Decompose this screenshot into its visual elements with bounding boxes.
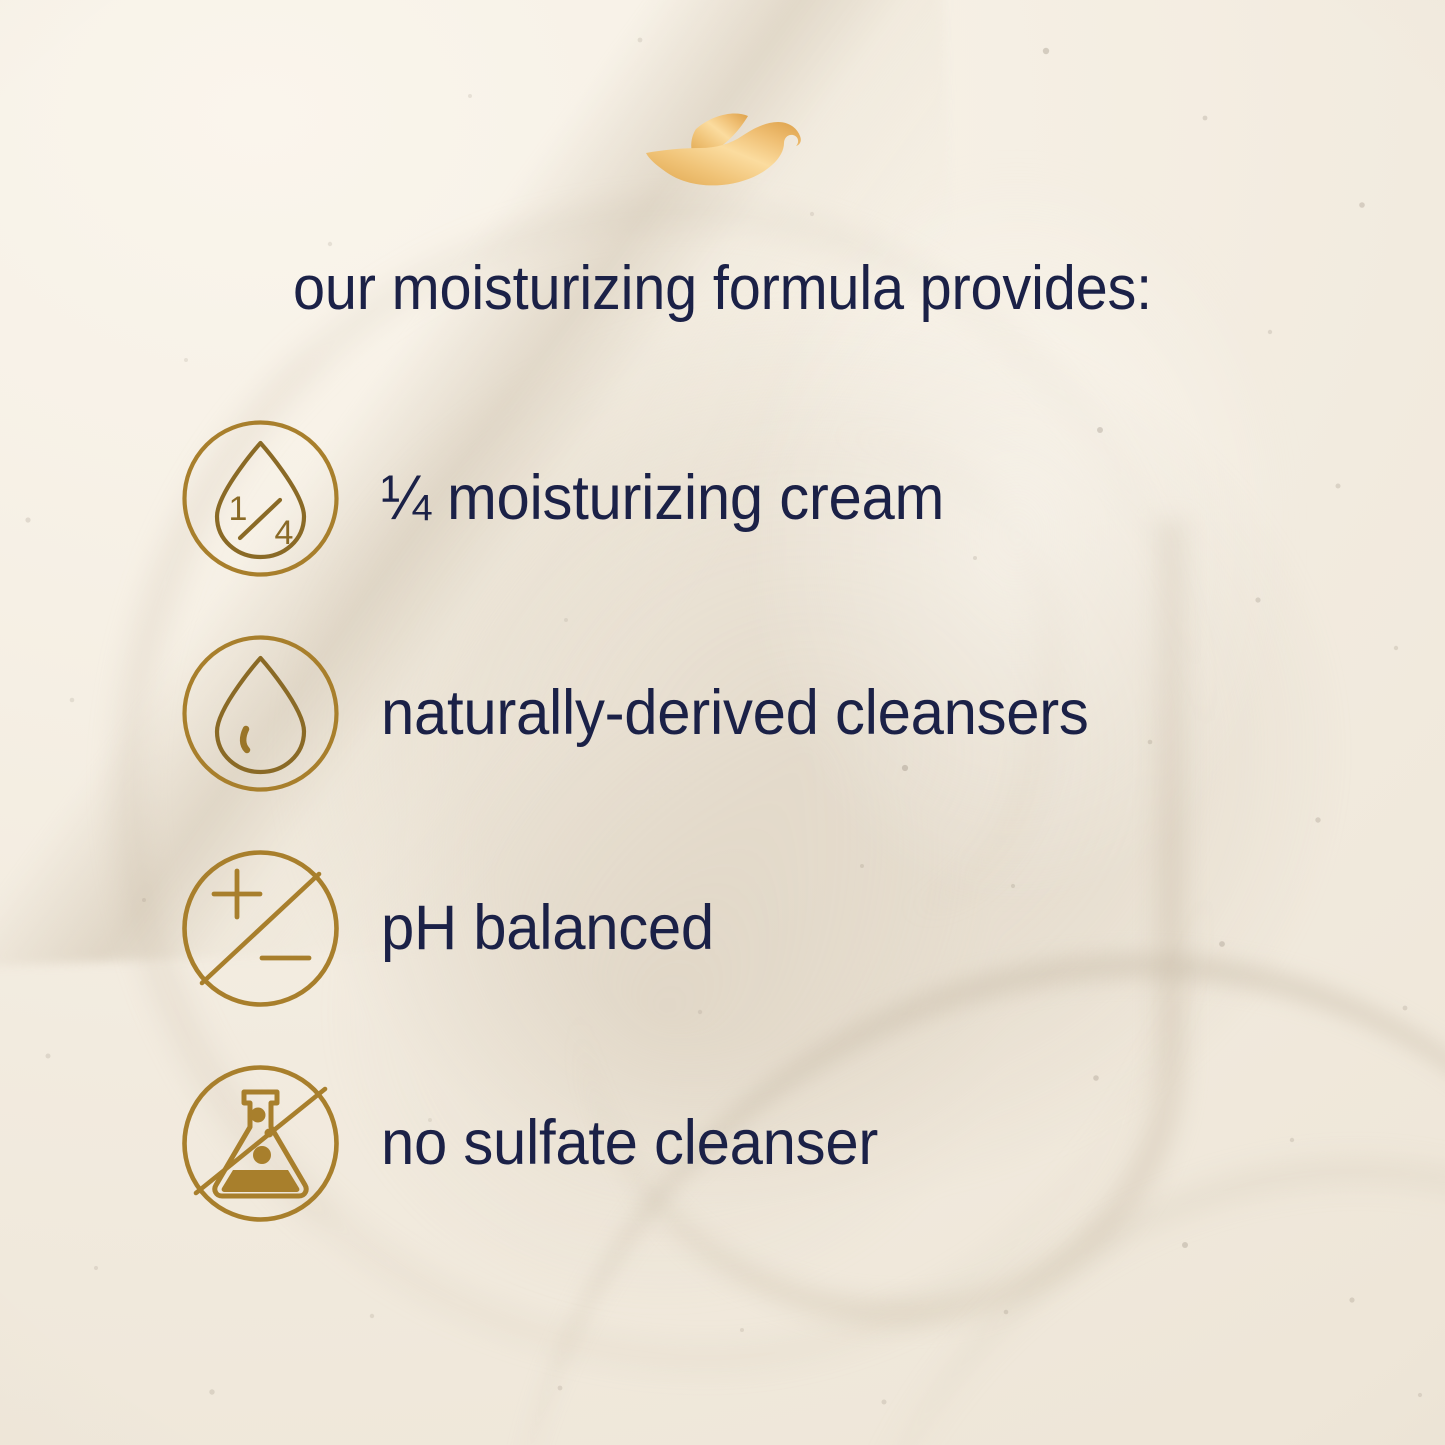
benefit-item-ph-balanced: pH balanced <box>178 842 1358 1014</box>
quarter-moisturizing-cream-droplet-icon: 1 4 <box>178 416 343 581</box>
benefit-item-moisturizing-cream: 1 4 ¼ moisturizing cream <box>178 412 1358 584</box>
benefit-item-no-sulfate-cleanser: no sulfate cleanser <box>178 1057 1358 1229</box>
droplet-numerator: 1 <box>229 490 248 528</box>
no-sulfate-flask-crossed-out-icon <box>178 1061 343 1226</box>
droplet-denominator: 4 <box>275 514 294 552</box>
brand-logo <box>0 112 1445 190</box>
droplet-highlight <box>243 729 247 750</box>
dove-product-benefits-ad: our moisturizing formula provides: 1 4 ¼… <box>0 0 1445 1445</box>
benefits-list: 1 4 ¼ moisturizing cream naturally-deriv… <box>178 412 1358 1229</box>
benefit-label-ph-balanced: pH balanced <box>381 895 714 961</box>
benefit-label-naturally-derived-cleansers: naturally-derived cleansers <box>381 680 1089 746</box>
ph-balanced-plus-minus-icon <box>178 846 343 1011</box>
flask-bubble-1 <box>251 1107 266 1122</box>
diagonal-divider <box>202 874 319 983</box>
page-title: our moisturizing formula provides: <box>51 258 1395 320</box>
flask-liquid <box>222 1170 300 1192</box>
benefit-item-naturally-derived-cleansers: naturally-derived cleansers <box>178 627 1358 799</box>
dove-logo-icon <box>638 112 808 190</box>
benefit-label-moisturizing-cream: ¼ moisturizing cream <box>381 465 944 531</box>
benefit-label-no-sulfate-cleanser: no sulfate cleanser <box>381 1110 878 1176</box>
flask-bubble-3 <box>253 1146 271 1164</box>
water-droplet-icon <box>178 631 343 796</box>
